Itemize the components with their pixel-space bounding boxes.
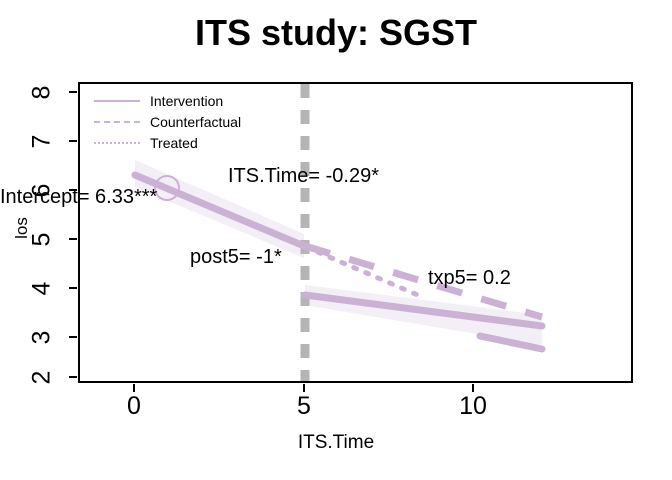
legend-label-intervention: Intervention xyxy=(150,93,223,109)
plot-panel: Intervention Counterfactual Treated xyxy=(78,82,633,383)
legend-item-intervention: Intervention xyxy=(94,90,264,111)
y-tick-7 xyxy=(69,140,77,142)
y-tick-label-4: 4 xyxy=(28,269,57,309)
y-tick-label-2: 2 xyxy=(28,358,57,398)
legend-key-dashed-icon xyxy=(94,116,140,128)
legend-item-counterfactual: Counterfactual xyxy=(94,111,264,132)
y-tick-3 xyxy=(69,336,77,338)
legend-label-treated: Treated xyxy=(150,135,198,151)
y-tick-label-7: 7 xyxy=(28,122,57,162)
x-tick-10 xyxy=(472,384,474,392)
legend-item-treated: Treated xyxy=(94,132,264,153)
y-tick-label-8: 8 xyxy=(28,73,57,113)
annotation-intercept: Intercept= 6.33*** xyxy=(0,186,157,209)
y-tick-5 xyxy=(69,238,77,240)
y-tick-4 xyxy=(69,287,77,289)
its-plot-figure: ITS study: SGST 8 7 6 5 4 3 2 los 0 5 10… xyxy=(0,0,672,480)
x-tick-5 xyxy=(303,384,305,392)
x-tick-label-5: 5 xyxy=(274,392,334,421)
legend-key-solid-icon xyxy=(94,95,140,107)
confidence-band-post xyxy=(305,285,542,345)
annotation-txp5: txp5= 0.2 xyxy=(428,267,511,290)
x-tick-label-10: 10 xyxy=(443,392,503,421)
y-tick-2 xyxy=(69,376,77,378)
x-axis-title: ITS.Time xyxy=(0,432,672,454)
annotation-its-time: ITS.Time= -0.29* xyxy=(228,165,379,188)
y-tick-label-3: 3 xyxy=(28,318,57,358)
annotation-post5: post5= -1* xyxy=(190,246,282,269)
x-tick-0 xyxy=(133,384,135,392)
legend: Intervention Counterfactual Treated xyxy=(94,90,264,153)
page-title: ITS study: SGST xyxy=(0,12,672,54)
x-tick-label-0: 0 xyxy=(104,392,164,421)
legend-label-counterfactual: Counterfactual xyxy=(150,114,241,130)
y-tick-8 xyxy=(69,91,77,93)
legend-key-dotted-icon xyxy=(94,137,140,149)
